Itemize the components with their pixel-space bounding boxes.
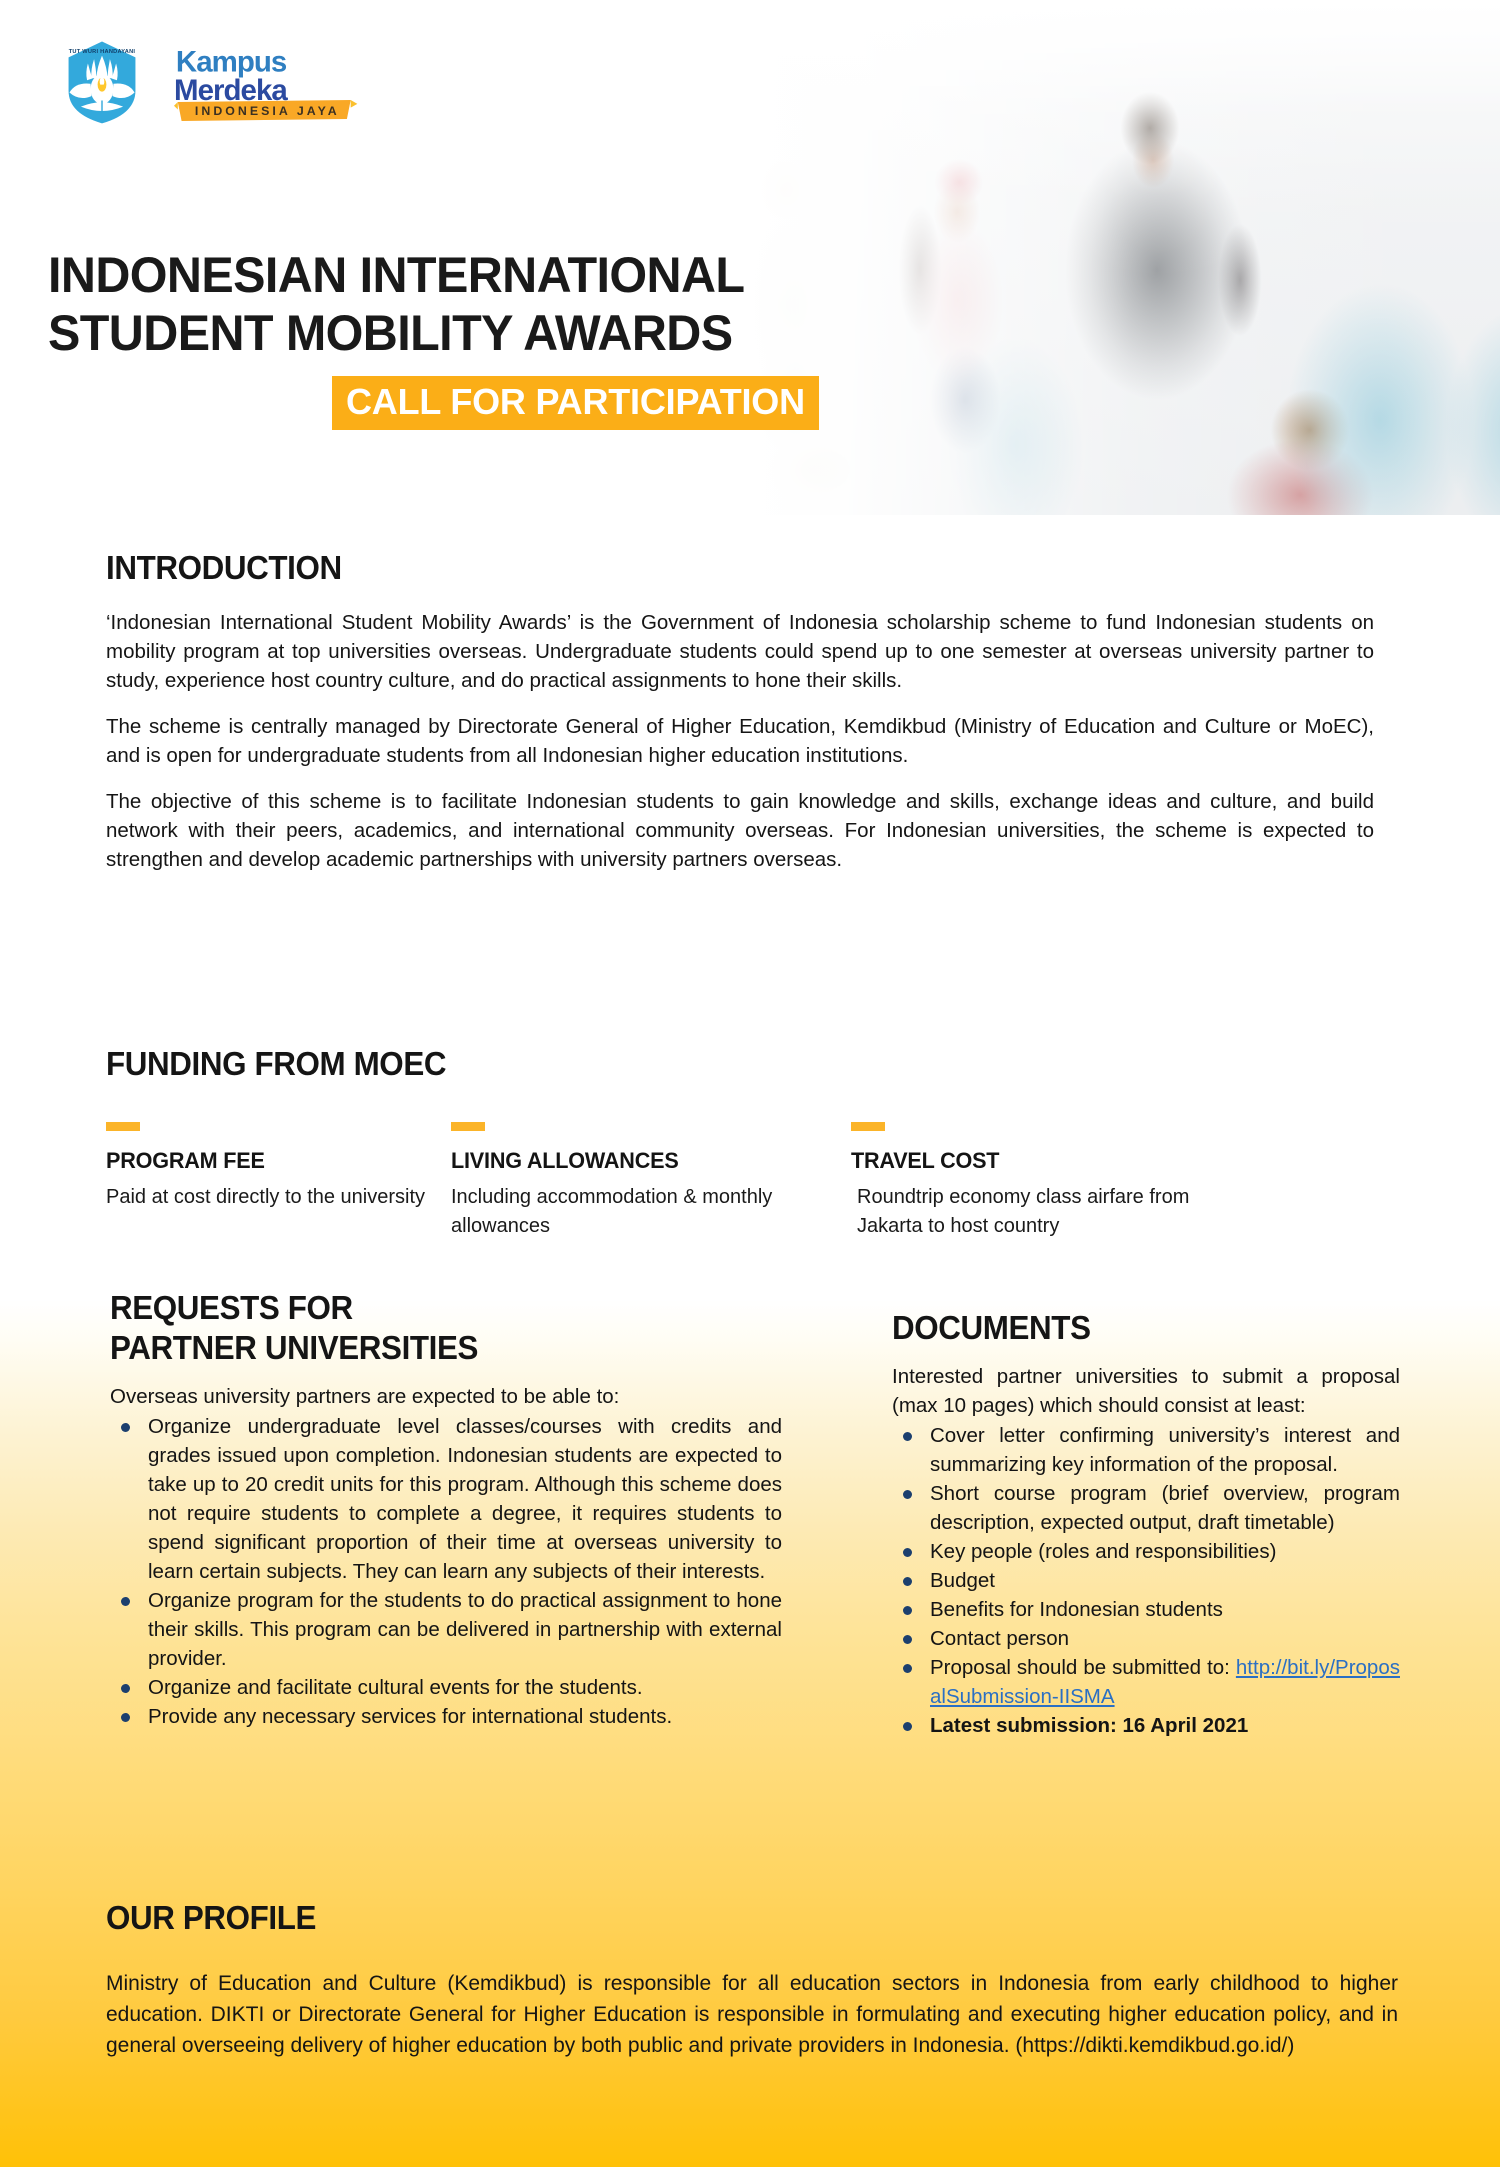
list-item-submission: Proposal should be submitted to: http://… — [892, 1653, 1400, 1711]
list-item: Organize program for the students to do … — [110, 1586, 782, 1673]
list-item: Benefits for Indonesian students — [892, 1595, 1400, 1624]
requests-section: REQUESTS FOR PARTNER UNIVERSITIES Overse… — [110, 1288, 782, 1731]
dash-icon — [106, 1122, 140, 1131]
submission-prefix: Proposal should be submitted to: — [930, 1656, 1230, 1679]
funding-item-travel-cost: TRAVEL COST Roundtrip economy class airf… — [851, 1122, 1251, 1241]
introduction-heading: INTRODUCTION — [106, 548, 1311, 588]
dash-icon — [851, 1122, 885, 1131]
documents-bullet-list: Cover letter confirming university’s int… — [892, 1421, 1400, 1740]
funding-item-desc: Including accommodation & monthly allowa… — [451, 1183, 851, 1241]
svg-text:TUT WURI HANDAYANI: TUT WURI HANDAYANI — [69, 49, 136, 55]
list-item: Budget — [892, 1566, 1400, 1595]
funding-item-title: TRAVEL COST — [851, 1147, 1235, 1174]
list-item-deadline: Latest submission: 16 April 2021 — [892, 1711, 1400, 1740]
logo-bar: TUT WURI HANDAYANI Kampus Merdeka INDONE… — [58, 38, 364, 126]
kampus-merdeka-logo-icon: Kampus Merdeka INDONESIA JAYA — [174, 41, 364, 123]
requests-lead: Overseas university partners are expecte… — [110, 1382, 782, 1411]
funding-heading: FUNDING FROM MOEC — [106, 1044, 1332, 1084]
funding-item-title: PROGRAM FEE — [106, 1147, 437, 1174]
funding-item-living-allowances: LIVING ALLOWANCES Including accommodatio… — [451, 1122, 851, 1241]
funding-section: FUNDING FROM MOEC PROGRAM FEE Paid at co… — [106, 1044, 1396, 1241]
funding-item-desc: Roundtrip economy class airfare from Jak… — [851, 1183, 1251, 1241]
title-block: INDONESIAN INTERNATIONAL STUDENT MOBILIT… — [48, 246, 819, 430]
requests-bullet-list: Organize undergraduate level classes/cou… — [110, 1412, 782, 1731]
list-item: Organize undergraduate level classes/cou… — [110, 1412, 782, 1586]
profile-text: Ministry of Education and Culture (Kemdi… — [106, 1968, 1398, 2061]
tut-wuri-handayani-logo-icon: TUT WURI HANDAYANI — [58, 38, 146, 126]
list-item: Contact person — [892, 1624, 1400, 1653]
introduction-paragraph: The objective of this scheme is to facil… — [106, 787, 1374, 874]
list-item: Short course program (brief overview, pr… — [892, 1479, 1400, 1537]
introduction-paragraph: ‘Indonesian International Student Mobili… — [106, 608, 1374, 695]
funding-item-desc: Paid at cost directly to the university — [106, 1183, 451, 1212]
list-item: Provide any necessary services for inter… — [110, 1702, 782, 1731]
profile-section: OUR PROFILE Ministry of Education and Cu… — [106, 1898, 1398, 2061]
list-item: Cover letter confirming university’s int… — [892, 1421, 1400, 1479]
documents-lead: Interested partner universities to submi… — [892, 1362, 1400, 1420]
poster-page: TUT WURI HANDAYANI Kampus Merdeka INDONE… — [0, 0, 1500, 2167]
funding-item-title: LIVING ALLOWANCES — [451, 1147, 835, 1174]
introduction-paragraph: The scheme is centrally managed by Direc… — [106, 712, 1374, 770]
list-item: Key people (roles and responsibilities) — [892, 1537, 1400, 1566]
dash-icon — [451, 1122, 485, 1131]
page-title: INDONESIAN INTERNATIONAL STUDENT MOBILIT… — [48, 246, 796, 362]
requests-heading: REQUESTS FOR PARTNER UNIVERSITIES — [110, 1288, 748, 1368]
profile-heading: OUR PROFILE — [106, 1898, 1333, 1938]
funding-item-program-fee: PROGRAM FEE Paid at cost directly to the… — [106, 1122, 451, 1241]
svg-text:INDONESIA JAYA: INDONESIA JAYA — [195, 104, 340, 118]
call-for-participation-banner: CALL FOR PARTICIPATION — [332, 376, 819, 430]
list-item: Organize and facilitate cultural events … — [110, 1673, 782, 1702]
funding-columns: PROGRAM FEE Paid at cost directly to the… — [106, 1122, 1396, 1241]
documents-section: DOCUMENTS Interested partner universitie… — [892, 1308, 1400, 1740]
introduction-section: INTRODUCTION ‘Indonesian International S… — [106, 548, 1374, 874]
documents-heading: DOCUMENTS — [892, 1308, 1375, 1348]
